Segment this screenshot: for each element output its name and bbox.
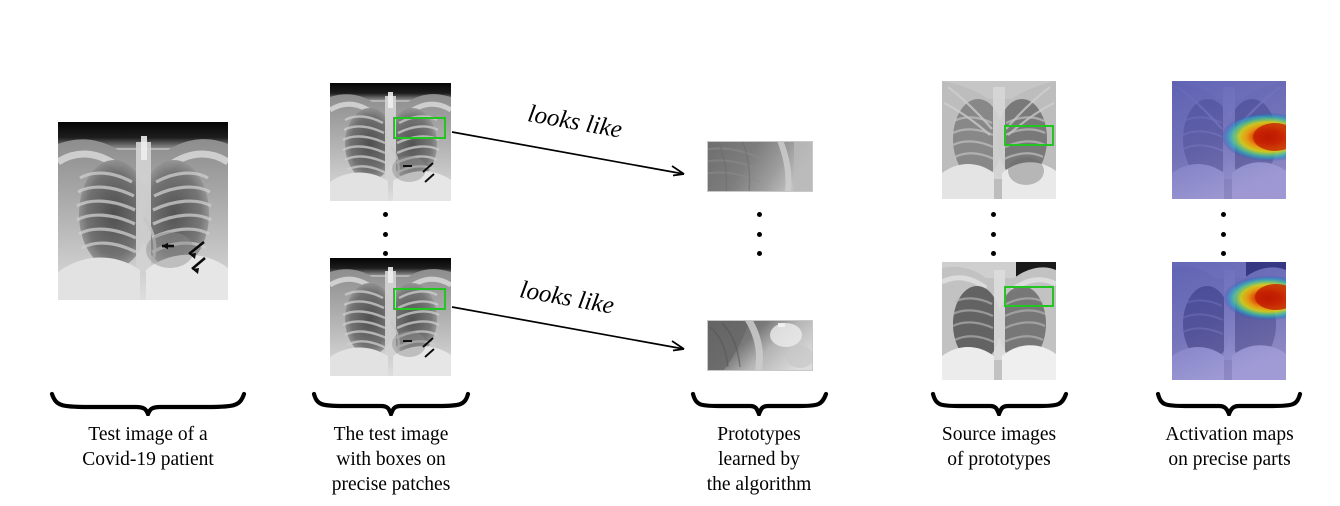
caption-activation-maps: Activation maps on precise parts [1137,423,1322,473]
boxed-test-xray-bottom [330,258,451,376]
brace-prototypes [689,390,830,416]
ellipsis-activation-maps [1221,212,1226,256]
source-xray-top [942,81,1056,199]
ellipsis-boxed-test-image [383,212,388,256]
ellipsis-prototypes [757,212,762,256]
dot [991,232,996,237]
prototype-patch-bottom [707,320,813,371]
boxed-test-xray-top [330,83,451,201]
activation-map-top [1172,81,1286,199]
caption-source-images: Source images of prototypes [914,423,1084,473]
dot [757,251,762,256]
brace-source-images [929,390,1070,416]
dot [1221,212,1226,217]
dot [383,212,388,217]
ellipsis-source-images [991,212,996,256]
prototype-patch-top [707,141,813,192]
dot [1221,232,1226,237]
dot [383,232,388,237]
dot [757,232,762,237]
caption-boxed-test-image: The test image with boxes on precise pat… [296,423,486,498]
dot [991,251,996,256]
source-xray-bottom [942,262,1056,380]
test-xray-image [58,122,228,300]
brace-activation-maps [1154,390,1304,416]
dot [1221,251,1226,256]
caption-prototypes: Prototypes learned by the algorithm [674,423,844,498]
brace-test-image [48,390,248,416]
dot [757,212,762,217]
caption-test-image: Test image of a Covid-19 patient [28,423,268,473]
brace-boxed-test-image [310,390,472,416]
activation-map-bottom [1172,262,1286,380]
figure-canvas: Test image of a Covid-19 patient [0,0,1340,506]
dot [383,251,388,256]
dot [991,212,996,217]
